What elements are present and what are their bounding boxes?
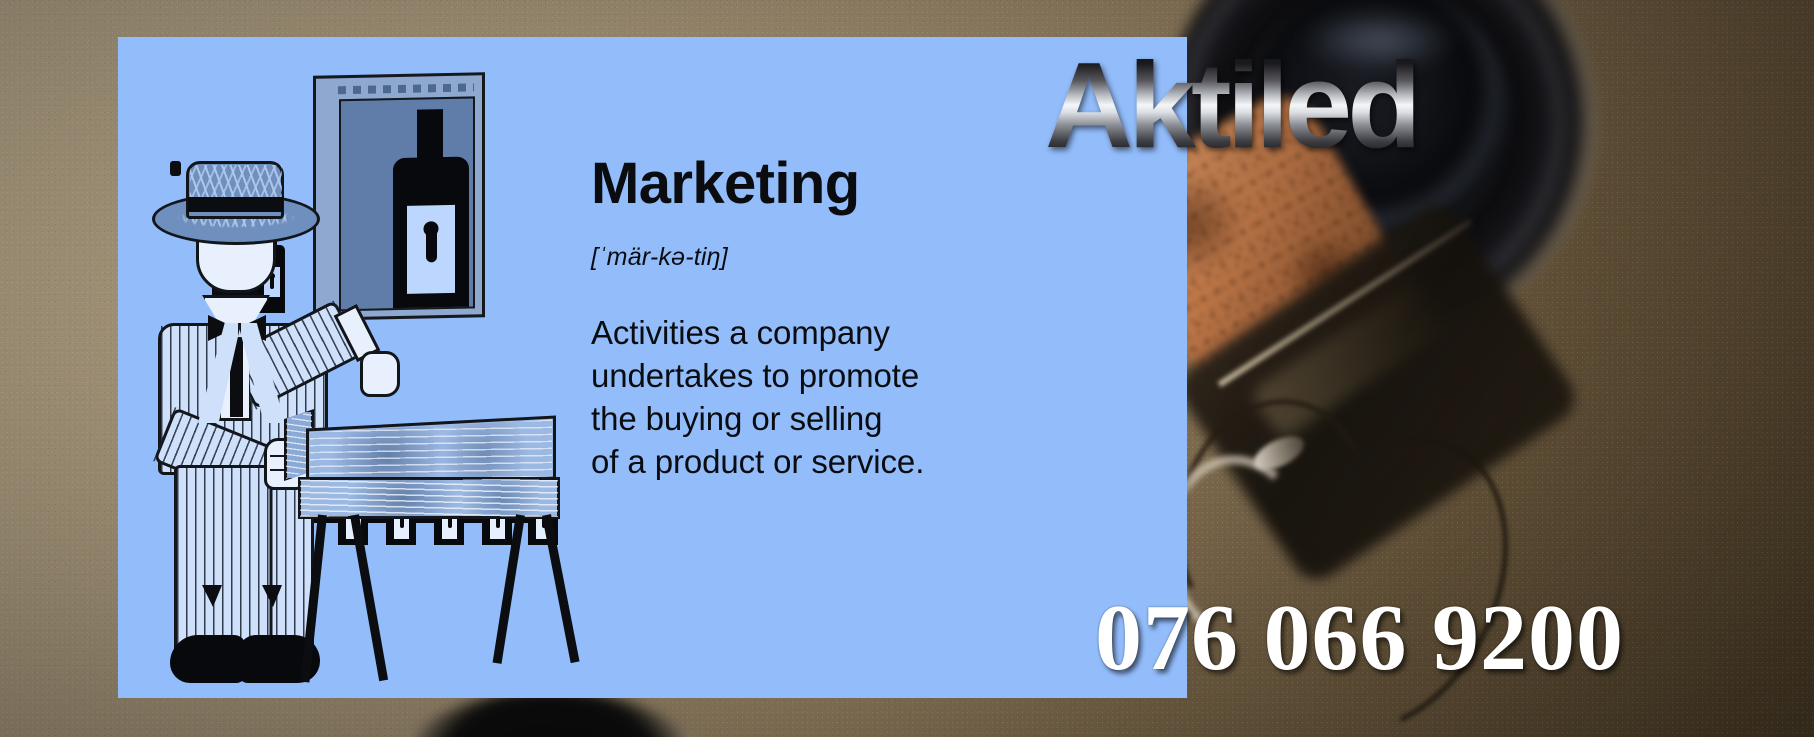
definition-line: Activities a company xyxy=(591,312,1091,355)
watermark-text: Aktiled xyxy=(1045,37,1417,173)
poster-bottle-label xyxy=(407,205,455,294)
table-wood-grain xyxy=(300,479,558,517)
illustration xyxy=(118,37,638,698)
headword: Marketing xyxy=(591,155,1091,213)
watermark-logo: AktiledV xyxy=(1045,44,1493,166)
table-leg xyxy=(542,514,579,663)
bow-tie-knot xyxy=(170,161,181,176)
pronunciation: [ˈmär-kə-tiŋ] xyxy=(591,243,1091,272)
definition-line: undertakes to promote xyxy=(591,355,1091,398)
definition-text-block: Marketing [ˈmär-kə-tiŋ] Activities a com… xyxy=(591,155,1091,484)
definition-line: the buying or selling xyxy=(591,398,1091,441)
shoe-left xyxy=(170,635,246,683)
definition-body: Activities a company undertakes to promo… xyxy=(591,312,1091,484)
trouser-pinstripes xyxy=(177,468,311,662)
keyhole-icon xyxy=(424,221,439,236)
frame-dots-horizontal xyxy=(338,83,474,94)
watermark-flipped-letter: V xyxy=(1417,44,1493,166)
definition-card: Marketing [ˈmär-kə-tiŋ] Activities a com… xyxy=(118,37,1187,698)
hat-weave-crown xyxy=(190,165,282,197)
definition-line: of a product or service. xyxy=(591,441,1091,484)
hat-band xyxy=(188,197,283,212)
screenshot-root: Marketing [ˈmär-kə-tiŋ] Activities a com… xyxy=(0,0,1814,737)
phone-number: 076 066 9200 xyxy=(1095,591,1624,685)
